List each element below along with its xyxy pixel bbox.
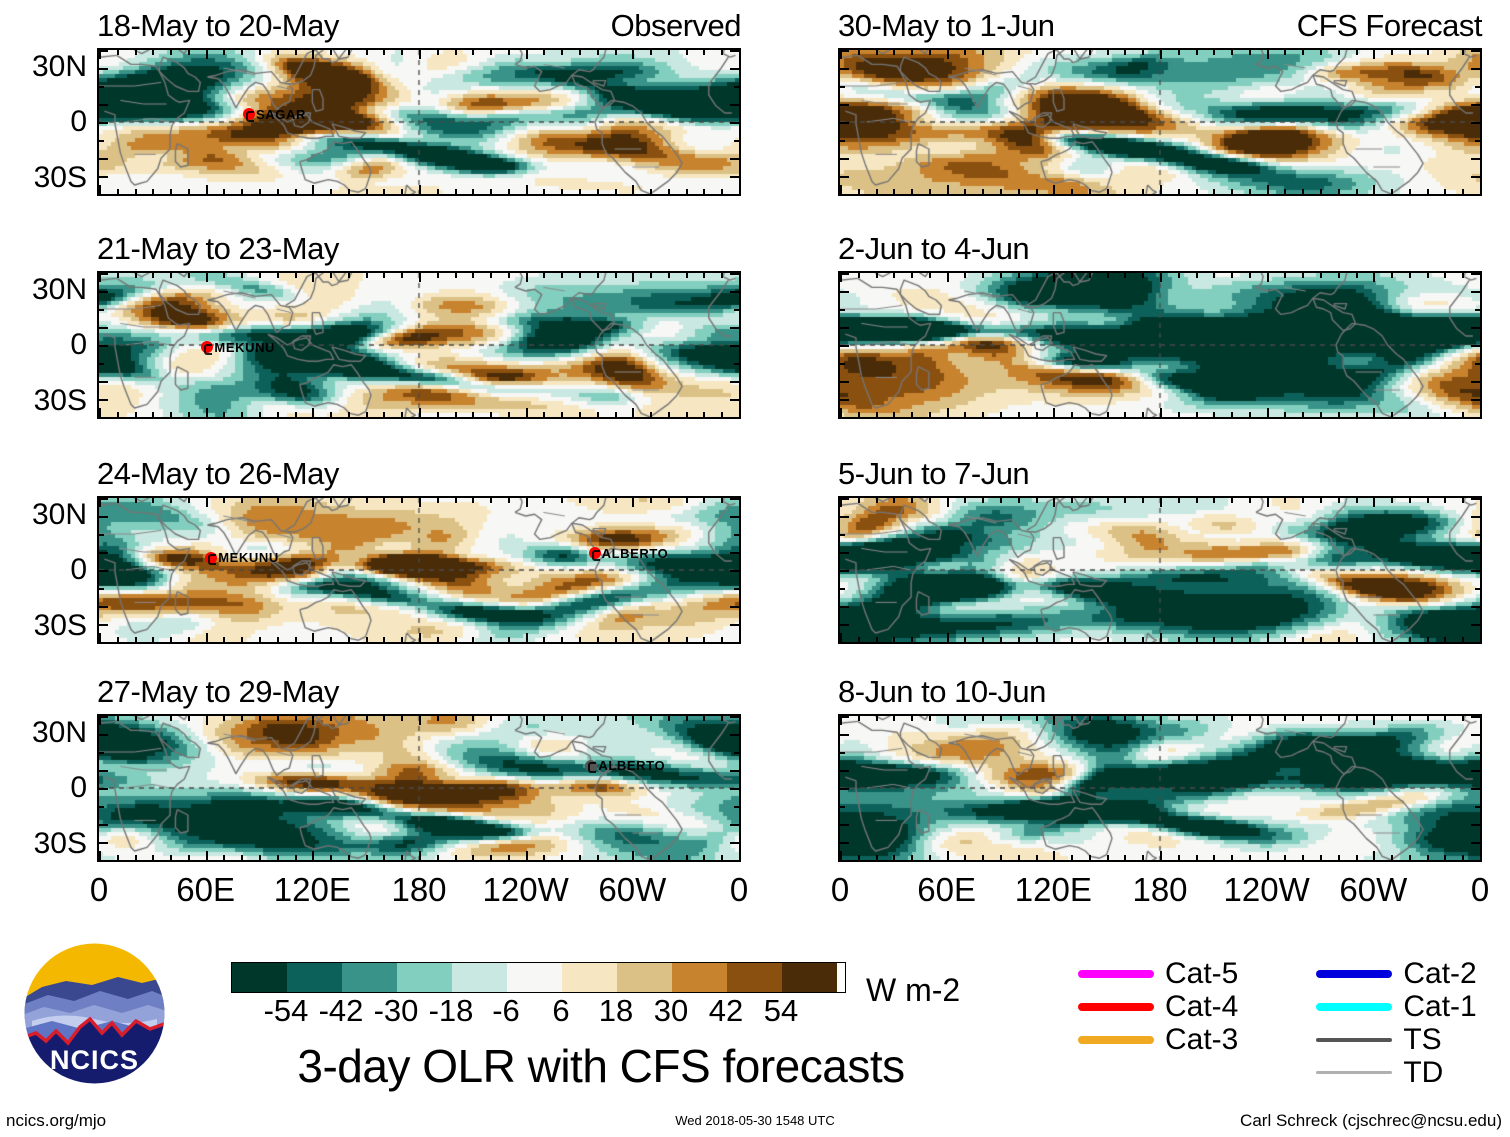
x-tick: [1196, 50, 1198, 55]
x-tick: [152, 637, 154, 642]
x-tick: [99, 851, 101, 860]
x-tick: [1338, 189, 1340, 194]
x-tick: [1480, 408, 1482, 417]
y-axis-tick-label: 30S: [34, 611, 87, 641]
x-tick: [508, 716, 510, 721]
x-tick: [526, 716, 528, 725]
x-tick: [223, 189, 225, 194]
olr-field-fcst-4: [840, 716, 1480, 860]
y-tick: [99, 345, 108, 347]
x-tick: [929, 716, 931, 721]
x-tick: [206, 50, 208, 59]
x-tick: [1391, 855, 1393, 860]
x-tick: [579, 50, 581, 55]
colorbar-tick-label: 18: [599, 995, 633, 1026]
x-tick: [947, 633, 949, 642]
colorbar-tick-label: 54: [764, 995, 798, 1026]
x-tick: [223, 412, 225, 417]
x-tick: [1320, 50, 1322, 55]
x-tick: [1462, 412, 1464, 417]
x-tick: [188, 412, 190, 417]
y-tick: [1471, 552, 1480, 554]
y-tick: [1471, 291, 1480, 293]
x-axis-tick-label: 0: [694, 873, 784, 906]
x-tick: [840, 851, 842, 860]
x-tick: [1018, 189, 1020, 194]
y-tick: [840, 381, 849, 383]
y-axis-tick-label: 0: [70, 330, 87, 360]
y-tick: [99, 842, 108, 844]
y-tick: [99, 291, 108, 293]
x-tick: [348, 498, 350, 503]
x-tick: [1444, 498, 1446, 503]
x-tick: [1071, 189, 1073, 194]
x-tick: [858, 855, 860, 860]
x-tick: [1284, 273, 1286, 278]
x-tick: [1427, 189, 1429, 194]
x-tick: [1160, 851, 1162, 860]
footer-author: Carl Schreck (cjschrec@ncsu.edu): [1240, 1112, 1502, 1129]
x-tick: [401, 716, 403, 721]
x-tick: [1320, 189, 1322, 194]
x-tick: [117, 412, 119, 417]
x-tick: [893, 498, 895, 503]
x-tick: [597, 498, 599, 503]
x-tick: [295, 50, 297, 55]
x-tick: [1462, 273, 1464, 278]
x-tick: [982, 716, 984, 721]
x-tick: [330, 50, 332, 55]
x-tick: [668, 412, 670, 417]
y-tick: [734, 194, 739, 196]
panel-title-fcst-2: 2-Jun to 4-Jun: [838, 233, 1029, 264]
x-tick: [1444, 50, 1446, 55]
x-tick: [1249, 716, 1251, 721]
x-tick: [579, 637, 581, 642]
x-tick: [135, 273, 137, 278]
x-tick: [686, 50, 688, 55]
x-tick: [947, 273, 949, 282]
x-tick: [1231, 498, 1233, 503]
x-tick: [650, 716, 652, 721]
x-tick: [117, 716, 119, 721]
legend-item-label: Cat-3: [1165, 1025, 1238, 1055]
y-tick: [1471, 788, 1480, 790]
x-tick: [1320, 637, 1322, 642]
x-tick: [1124, 498, 1126, 503]
x-tick: [1249, 498, 1251, 503]
legend-item-label: Cat-4: [1165, 992, 1238, 1022]
y-tick: [99, 588, 104, 590]
legend-item-label: TS: [1403, 1025, 1441, 1055]
x-tick: [1160, 716, 1162, 725]
x-tick: [1302, 855, 1304, 860]
x-tick: [1000, 716, 1002, 721]
observed-column-header: Observed: [611, 10, 741, 41]
x-tick: [1320, 716, 1322, 721]
x-tick: [1320, 412, 1322, 417]
y-axis-tick-label: 30S: [34, 163, 87, 193]
x-tick: [1000, 855, 1002, 860]
x-tick: [348, 189, 350, 194]
y-tick: [730, 327, 739, 329]
x-tick: [1178, 412, 1180, 417]
x-tick: [170, 637, 172, 642]
x-tick: [964, 273, 966, 278]
legend-color-swatch: [1078, 1003, 1154, 1011]
x-tick: [419, 408, 421, 417]
legend-color-swatch: [1316, 1003, 1392, 1011]
x-axis-tick-label: 180: [374, 873, 464, 906]
y-tick: [99, 122, 108, 124]
x-tick: [1231, 855, 1233, 860]
x-tick: [1160, 633, 1162, 642]
x-tick: [1427, 855, 1429, 860]
x-tick: [543, 50, 545, 55]
x-tick: [911, 189, 913, 194]
x-tick: [703, 273, 705, 278]
colorbar-units-label: W m-2: [866, 974, 960, 1006]
x-tick: [1196, 498, 1198, 503]
x-tick: [1480, 498, 1482, 507]
olr-field-fcst-1: [840, 50, 1480, 194]
storm-symbol-icon: [205, 552, 217, 564]
colorbar-cell-7: [617, 963, 672, 992]
storm-name-label: MEKUNU: [214, 341, 275, 354]
x-tick: [472, 50, 474, 55]
x-tick: [1231, 637, 1233, 642]
y-tick: [1471, 381, 1480, 383]
y-tick: [1471, 104, 1480, 106]
x-tick: [1462, 637, 1464, 642]
x-tick: [1018, 855, 1020, 860]
x-axis-tick-label: 60E: [161, 873, 251, 906]
x-tick: [508, 412, 510, 417]
x-tick: [632, 50, 634, 59]
x-tick: [348, 855, 350, 860]
x-tick: [1373, 498, 1375, 507]
y-tick: [99, 68, 108, 70]
x-tick: [1089, 189, 1091, 194]
x-tick: [1267, 408, 1269, 417]
colorbar-cell-10: [782, 963, 837, 992]
x-tick: [1142, 189, 1144, 194]
x-tick: [1480, 851, 1482, 860]
x-tick: [703, 50, 705, 55]
y-tick: [734, 140, 739, 142]
x-tick: [911, 716, 913, 721]
x-tick: [1302, 50, 1304, 55]
colorbar-tick-label: -18: [429, 995, 474, 1026]
storm-name-label: MEKUNU: [218, 551, 279, 564]
olr-field-obs-4: [99, 716, 739, 860]
x-tick: [1107, 855, 1109, 860]
x-tick: [893, 855, 895, 860]
x-tick: [1284, 412, 1286, 417]
x-tick: [1036, 855, 1038, 860]
x-tick: [1462, 189, 1464, 194]
x-tick: [686, 412, 688, 417]
x-tick: [1071, 273, 1073, 278]
x-tick: [1391, 498, 1393, 503]
x-tick: [1356, 637, 1358, 642]
x-tick: [490, 189, 492, 194]
x-tick: [632, 185, 634, 194]
x-tick: [561, 498, 563, 503]
x-tick: [650, 412, 652, 417]
x-tick: [419, 633, 421, 642]
x-tick: [1444, 855, 1446, 860]
x-tick: [858, 637, 860, 642]
y-tick: [99, 381, 108, 383]
x-tick: [472, 412, 474, 417]
olr-field-obs-2: [99, 273, 739, 417]
x-tick: [929, 498, 931, 503]
y-tick: [840, 534, 845, 536]
x-tick: [686, 498, 688, 503]
x-tick: [135, 412, 137, 417]
y-tick: [99, 327, 108, 329]
x-tick: [170, 855, 172, 860]
footer-timestamp: Wed 2018-05-30 1548 UTC: [675, 1112, 834, 1129]
x-tick: [1249, 273, 1251, 278]
x-tick: [1000, 412, 1002, 417]
x-tick: [1178, 189, 1180, 194]
x-tick: [241, 273, 243, 278]
x-tick: [1196, 273, 1198, 278]
y-axis-tick-label: 30N: [32, 718, 87, 748]
x-tick: [330, 273, 332, 278]
x-tick: [1160, 498, 1162, 507]
y-tick: [99, 104, 108, 106]
x-tick: [1196, 637, 1198, 642]
colorbar-tick-label: -42: [319, 995, 364, 1026]
x-tick: [1444, 189, 1446, 194]
y-tick: [99, 399, 108, 401]
x-tick: [876, 498, 878, 503]
x-tick: [561, 855, 563, 860]
colorbar-cell-6: [562, 963, 617, 992]
x-tick: [170, 716, 172, 721]
olr-field-obs-3: [99, 498, 739, 642]
x-tick: [366, 50, 368, 55]
x-tick: [982, 412, 984, 417]
y-tick: [840, 734, 849, 736]
x-tick: [579, 716, 581, 721]
colorbar-tick-label: 30: [654, 995, 688, 1026]
y-tick: [840, 273, 849, 275]
x-tick: [1124, 50, 1126, 55]
x-tick: [1124, 273, 1126, 278]
x-tick: [472, 498, 474, 503]
y-tick: [99, 176, 108, 178]
x-tick: [188, 50, 190, 55]
x-tick: [1409, 273, 1411, 278]
x-tick: [1053, 408, 1055, 417]
x-tick: [170, 50, 172, 55]
x-tick: [650, 855, 652, 860]
x-tick: [543, 716, 545, 721]
x-tick: [135, 637, 137, 642]
x-tick: [1231, 50, 1233, 55]
y-tick: [1475, 363, 1480, 365]
x-tick: [1391, 189, 1393, 194]
colorbar-cell-0: [232, 963, 287, 992]
x-tick: [1071, 855, 1073, 860]
x-tick: [472, 855, 474, 860]
x-tick: [170, 498, 172, 503]
x-tick: [947, 851, 949, 860]
x-tick: [668, 189, 670, 194]
y-tick: [734, 309, 739, 311]
legend-color-swatch: [1316, 1071, 1392, 1074]
x-tick: [1053, 716, 1055, 725]
forecast-column-header: CFS Forecast: [1297, 10, 1482, 41]
x-tick: [117, 189, 119, 194]
x-tick: [455, 855, 457, 860]
x-tick: [401, 637, 403, 642]
x-tick: [277, 855, 279, 860]
x-tick: [1071, 716, 1073, 721]
y-tick: [99, 534, 104, 536]
x-tick: [964, 716, 966, 721]
x-tick: [1338, 855, 1340, 860]
legend-color-swatch: [1078, 970, 1154, 978]
y-tick: [1471, 399, 1480, 401]
y-tick: [730, 606, 739, 608]
x-tick: [982, 50, 984, 55]
x-tick: [259, 498, 261, 503]
x-tick: [929, 189, 931, 194]
x-tick: [1124, 412, 1126, 417]
map-plot-obs-4: ALBERTO: [97, 714, 741, 862]
y-tick: [1475, 642, 1480, 644]
y-tick: [1475, 588, 1480, 590]
x-tick: [1427, 716, 1429, 721]
x-tick: [964, 498, 966, 503]
storm-name-label: ALBERTO: [602, 547, 669, 560]
x-tick: [152, 273, 154, 278]
x-tick: [721, 716, 723, 721]
y-tick: [840, 716, 849, 718]
storm-marker-alberto: ALBERTO: [585, 759, 665, 772]
x-tick: [964, 50, 966, 55]
x-tick: [1409, 498, 1411, 503]
x-tick: [615, 189, 617, 194]
x-tick: [1480, 633, 1482, 642]
x-tick: [1160, 50, 1162, 59]
x-tick: [911, 273, 913, 278]
y-tick: [730, 788, 739, 790]
x-tick: [543, 189, 545, 194]
svg-text:NCICS: NCICS: [50, 1045, 139, 1075]
x-tick: [561, 189, 563, 194]
x-tick: [876, 412, 878, 417]
x-tick: [632, 633, 634, 642]
x-tick: [876, 637, 878, 642]
x-tick: [99, 633, 101, 642]
y-tick: [840, 642, 845, 644]
x-tick: [1213, 189, 1215, 194]
x-tick: [893, 637, 895, 642]
x-tick: [1036, 412, 1038, 417]
x-tick: [561, 716, 563, 721]
x-tick: [437, 855, 439, 860]
x-tick: [526, 408, 528, 417]
x-tick: [419, 50, 421, 59]
y-tick: [840, 291, 849, 293]
y-tick: [730, 50, 739, 52]
x-tick: [1302, 189, 1304, 194]
x-tick: [383, 716, 385, 721]
x-tick: [911, 50, 913, 55]
x-tick: [1391, 637, 1393, 642]
x-tick: [1409, 637, 1411, 642]
x-tick: [964, 412, 966, 417]
y-tick: [840, 498, 849, 500]
x-tick: [615, 273, 617, 278]
x-tick: [1338, 50, 1340, 55]
x-tick: [650, 189, 652, 194]
x-tick: [1409, 189, 1411, 194]
y-tick: [1471, 345, 1480, 347]
storm-symbol-icon: [201, 341, 213, 353]
x-tick: [241, 498, 243, 503]
x-tick: [1462, 716, 1464, 721]
x-tick: [876, 855, 878, 860]
x-tick: [241, 412, 243, 417]
x-tick: [1356, 412, 1358, 417]
panel-title-obs-1: 18-May to 20-May: [97, 10, 339, 41]
x-tick: [1089, 855, 1091, 860]
storm-category-legend: Cat-5Cat-4Cat-3 Cat-2Cat-1TSTD: [1078, 958, 1477, 1088]
x-tick: [1089, 498, 1091, 503]
x-tick: [455, 50, 457, 55]
x-tick: [858, 189, 860, 194]
panel-title-obs-4: 27-May to 29-May: [97, 676, 339, 707]
footer-website[interactable]: ncics.org/mjo: [6, 1112, 106, 1129]
x-tick: [135, 855, 137, 860]
x-tick: [348, 50, 350, 55]
y-axis-tick-label: 30N: [32, 275, 87, 305]
x-tick: [1178, 855, 1180, 860]
x-tick: [1124, 855, 1126, 860]
x-tick: [721, 637, 723, 642]
x-tick: [508, 498, 510, 503]
y-tick: [730, 552, 739, 554]
x-tick: [1462, 50, 1464, 55]
x-tick: [1213, 412, 1215, 417]
x-tick: [1267, 273, 1269, 282]
y-tick: [1471, 570, 1480, 572]
legend-item-cat-5: Cat-5: [1078, 958, 1238, 989]
x-tick: [259, 412, 261, 417]
colorbar-swatches: [231, 962, 846, 993]
x-tick: [739, 185, 741, 194]
x-tick: [1391, 50, 1393, 55]
x-tick: [1267, 185, 1269, 194]
x-tick: [1320, 855, 1322, 860]
x-tick: [1018, 637, 1020, 642]
y-tick: [840, 770, 849, 772]
x-tick: [597, 273, 599, 278]
ncics-logo: NCICS: [22, 941, 167, 1086]
x-tick: [1338, 273, 1340, 278]
y-tick: [99, 806, 104, 808]
x-tick: [1356, 189, 1358, 194]
y-tick: [1471, 176, 1480, 178]
x-axis-tick-label: 60E: [902, 873, 992, 906]
